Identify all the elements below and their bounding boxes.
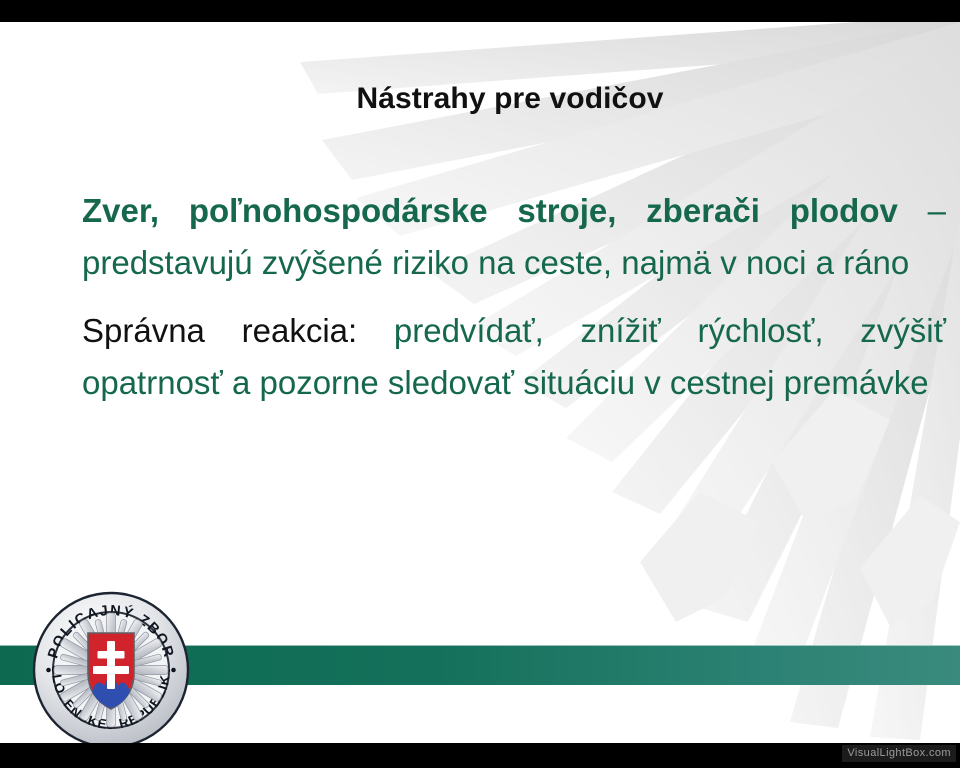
paragraph-1: Zver, poľnohospodárske stroje, zberači p… (82, 185, 946, 289)
watermark-label: VisualLightBox.com (842, 745, 956, 762)
paragraph-1-lead: Zver, poľnohospodárske stroje, zberači p… (82, 192, 898, 229)
slide-title: Nástrahy pre vodičov (0, 82, 960, 116)
top-letterbox-bar (0, 0, 960, 22)
police-emblem: POLICAJNÝ ZBOR SLOVENSKEJ REPUBLIKY (32, 591, 190, 743)
bottom-letterbox-bar (0, 743, 960, 768)
paragraph-2-lead: Správna reakcia: (82, 312, 357, 349)
slide-body: Zver, poľnohospodárske stroje, zberači p… (82, 185, 946, 409)
slide-canvas: Nástrahy pre vodičov Zver, poľnohospodár… (0, 22, 960, 743)
presentation-slide: Nástrahy pre vodičov Zver, poľnohospodár… (0, 0, 960, 768)
paragraph-2: Správna reakcia: predvídať, znížiť rýchl… (82, 305, 946, 409)
